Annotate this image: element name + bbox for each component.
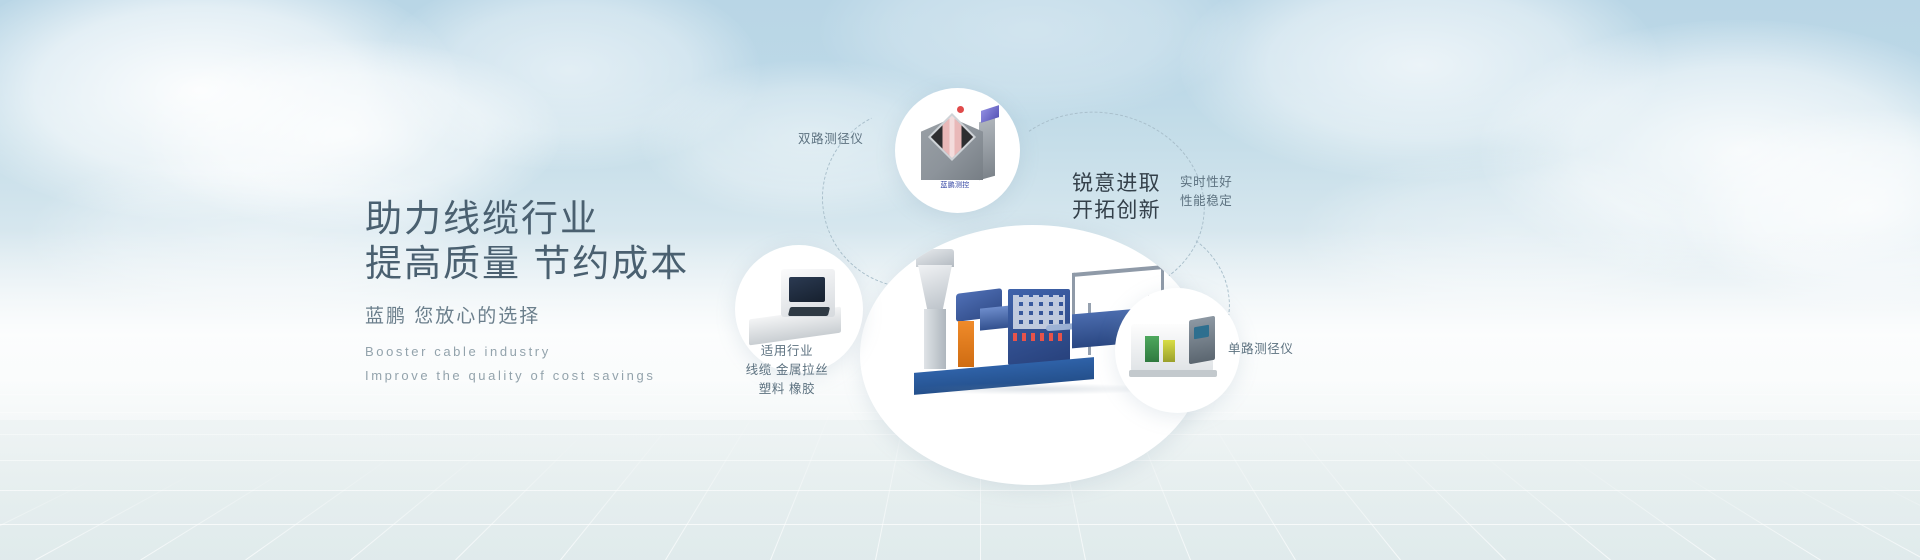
floor-horizontal-line <box>0 490 1920 491</box>
hopper-icon <box>918 265 952 311</box>
orange-column <box>958 321 974 367</box>
callout-applications: 适用行业 线缆 金属拉丝 塑料 橡胶 <box>728 342 846 399</box>
console-screen <box>789 277 825 302</box>
floor-vertical-line <box>0 480 92 560</box>
hopper-top-icon <box>916 249 954 267</box>
hero-banner: 助力线缆行业 提高质量 节约成本 蓝鹏 您放心的选择 Booster cable… <box>0 0 1920 560</box>
gauge-status-led <box>957 106 964 113</box>
callout-performance-line-1: 实时性好 <box>1180 173 1232 192</box>
floor-vertical-line <box>1667 465 1821 560</box>
floor-vertical-line <box>560 420 674 560</box>
floor-vertical-line <box>35 473 193 560</box>
floor-vertical-line <box>1768 473 1920 560</box>
floor-horizontal-line <box>0 524 1920 525</box>
console-keyboard <box>788 307 830 316</box>
dual-gauge-bubble: 蓝鹏测控 <box>895 88 1020 213</box>
gauge-internal-yellow <box>1163 340 1175 362</box>
callout-applications-line-1: 线缆 金属拉丝 <box>728 361 846 380</box>
slogan-block: 锐意进取 开拓创新 <box>1072 170 1161 224</box>
callout-performance-line-2: 性能稳定 <box>1180 192 1232 211</box>
floor-vertical-line <box>350 445 489 560</box>
floor-vertical-line <box>140 465 294 560</box>
cloud-shape <box>1680 110 1920 310</box>
cabinet-indicator-row <box>1013 333 1065 341</box>
cloud-shape <box>1300 150 1720 320</box>
single-gauge-control-panel <box>1189 316 1215 365</box>
floor-vertical-line <box>1568 456 1716 560</box>
hopper-stand <box>924 309 946 369</box>
single-gauge-illustration <box>1115 288 1240 413</box>
floor-vertical-line <box>455 433 584 560</box>
cloud-shape <box>1480 20 1920 280</box>
callout-performance: 实时性好 性能稳定 <box>1180 173 1232 211</box>
floor-vertical-line <box>245 456 393 560</box>
callout-single-gauge: 单路测径仪 <box>1228 340 1294 358</box>
single-gauge-bubble <box>1115 288 1240 413</box>
callout-dual-gauge: 双路测径仪 <box>798 130 864 148</box>
slogan-line-2: 开拓创新 <box>1072 197 1161 224</box>
product-showcase-graphic: 蓝鹏测控 双路测径仪 单路测径仪 <box>700 60 1340 490</box>
cloud-shape <box>0 0 460 220</box>
floor-vertical-line <box>1377 433 1506 560</box>
callout-applications-title: 适用行业 <box>728 342 846 361</box>
single-gauge-base <box>1129 370 1217 377</box>
floor-vertical-line <box>1869 480 1920 560</box>
dual-gauge-illustration: 蓝鹏测控 <box>895 88 1020 213</box>
device-brand-label: 蓝鹏测控 <box>925 180 985 190</box>
slogan-line-1: 锐意进取 <box>1072 170 1161 197</box>
gauge-internal-green <box>1145 336 1159 362</box>
callout-applications-line-2: 塑料 橡胶 <box>728 380 846 399</box>
floor-vertical-line <box>1471 445 1610 560</box>
